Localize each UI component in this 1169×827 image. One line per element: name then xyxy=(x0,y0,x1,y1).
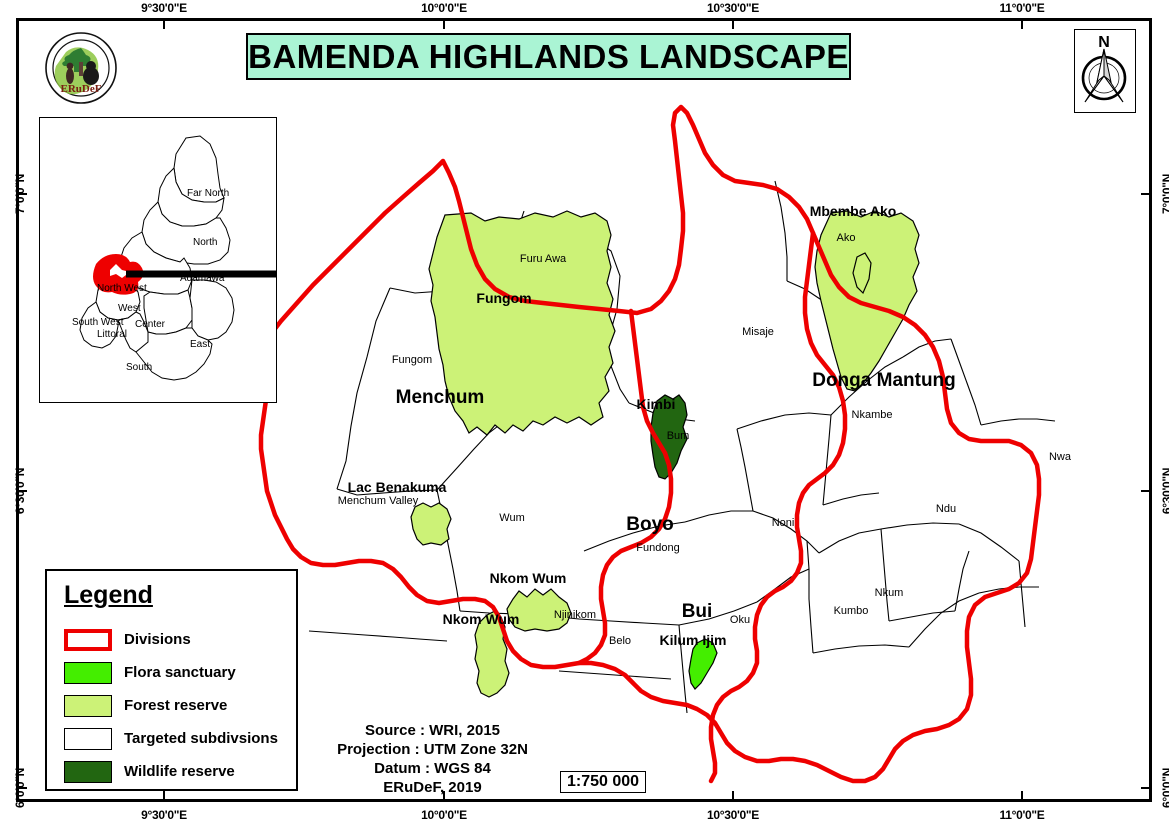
inset-map-cameroon: Far NorthNorthAdamawaNorth WestWestSouth… xyxy=(39,117,277,403)
inset-region-label-7: Center xyxy=(135,319,165,330)
protected-area-label-4: Nkom Wum xyxy=(490,570,567,586)
inset-region-label-1: North xyxy=(193,237,217,248)
subdivision-label-10: Kumbo xyxy=(834,605,869,617)
protected-area-label-5: Nkom Wum xyxy=(443,611,520,627)
source-line-2: Datum : WGS 84 xyxy=(310,759,555,778)
division-label-1: Donga Mantung xyxy=(812,370,956,391)
graticule-label-bottom-3: 11°0'0"E xyxy=(1000,808,1045,822)
map-title: BAMENDA HIGHLANDS LANDSCAPE xyxy=(248,38,849,76)
legend-item-2: Forest reserve xyxy=(64,689,294,722)
graticule-label-bottom-0: 9°30'0"E xyxy=(141,808,187,822)
inset-region-label-5: South West xyxy=(72,317,124,328)
legend-swatch-0 xyxy=(64,629,112,651)
legend-item-0: Divisions xyxy=(64,623,294,656)
protected-area-label-1: Mbembe Ako xyxy=(810,203,897,219)
subdivision-label-7: Ndu xyxy=(936,503,956,515)
area-mbembe-ako xyxy=(815,211,919,391)
graticule-label-top-2: 10°30'0"E xyxy=(707,1,759,15)
graticule-label-top-0: 9°30'0"E xyxy=(141,1,187,15)
inset-region-label-3: North West xyxy=(97,283,147,294)
subdivision-label-1: Fungom xyxy=(392,354,432,366)
legend-item-4: Wildlife reserve xyxy=(64,755,294,788)
graticule-label-right-1: 6°30'0"N xyxy=(1160,468,1169,514)
source-line-1: Projection : UTM Zone 32N xyxy=(310,740,555,759)
subdivision-label-14: Fundong xyxy=(636,542,679,554)
subdivision-label-16: Menchum Valley xyxy=(338,495,419,507)
legend-swatch-4 xyxy=(64,761,112,783)
inset-region-label-9: South xyxy=(126,362,152,373)
legend-title: Legend xyxy=(64,581,153,610)
division-label-0: Menchum xyxy=(396,387,485,408)
division-label-3: Bui xyxy=(682,601,713,622)
subdivision-label-3: Misaje xyxy=(742,326,774,338)
inset-region-label-2: Adamawa xyxy=(180,273,224,284)
division-label-2: Boyo xyxy=(626,514,674,535)
legend-label-0: Divisions xyxy=(124,631,191,648)
inset-region-label-4: West xyxy=(118,303,141,314)
subdivision-label-0: Furu Awa xyxy=(520,253,567,265)
legend-swatch-3 xyxy=(64,728,112,750)
legend-box: Legend DivisionsFlora sanctuaryForest re… xyxy=(45,569,298,791)
graticule-label-right-2: 6°0'0"N xyxy=(1160,768,1169,808)
inset-region-label-0: Far North xyxy=(187,188,229,199)
legend-item-1: Flora sanctuary xyxy=(64,656,294,689)
subdivision-label-13: Njinikom xyxy=(554,609,596,621)
source-line-3: ERuDeF, 2019 xyxy=(310,778,555,797)
graticule-label-top-1: 10°0'0"E xyxy=(421,1,467,15)
subdivision-label-2: Bum xyxy=(667,430,690,442)
subdivision-label-11: Oku xyxy=(730,614,750,626)
protected-area-label-2: Kimbi xyxy=(637,396,676,412)
map-page: 9°30'0"E10°0'0"E10°30'0"E11°0'0"E 9°30'0… xyxy=(0,0,1169,827)
map-title-box: BAMENDA HIGHLANDS LANDSCAPE xyxy=(246,33,851,80)
graticule-label-bottom-2: 10°30'0"E xyxy=(707,808,759,822)
north-arrow-box: N xyxy=(1074,29,1136,113)
protected-area-label-6: Kilum Ijim xyxy=(660,632,727,648)
legend-item-3: Targeted subdivsions xyxy=(64,722,294,755)
subdivision-label-9: Nkum xyxy=(875,587,904,599)
subdivision-label-4: Ako xyxy=(837,232,856,244)
legend-label-3: Targeted subdivsions xyxy=(124,730,278,747)
protected-area-label-3: Lac Benakuma xyxy=(348,479,447,495)
legend-label-4: Wildlife reserve xyxy=(124,763,235,780)
graticule-label-right-0: 7°0'0"N xyxy=(1160,174,1169,214)
subdivision-label-5: Nkambe xyxy=(852,409,893,421)
area-lac-benakuma xyxy=(411,503,451,545)
protected-area-label-0: Fungom xyxy=(476,290,531,306)
source-line-0: Source : WRI, 2015 xyxy=(310,721,555,740)
legend-items: DivisionsFlora sanctuaryForest reserveTa… xyxy=(64,623,294,788)
legend-swatch-2 xyxy=(64,695,112,717)
graticule-label-top-3: 11°0'0"E xyxy=(1000,1,1045,15)
subdivision-label-8: Noni xyxy=(772,517,795,529)
subdivision-label-15: Wum xyxy=(499,512,524,524)
subdivision-label-12: Belo xyxy=(609,635,631,647)
subdivision-label-6: Nwa xyxy=(1049,451,1072,463)
scale-text: 1:750 000 xyxy=(560,771,646,793)
source-credits: Source : WRI, 2015Projection : UTM Zone … xyxy=(310,721,555,797)
inset-region-label-8: East xyxy=(190,339,210,350)
svg-text:N: N xyxy=(1098,34,1110,51)
legend-swatch-1 xyxy=(64,662,112,684)
svg-text:ERuDeF: ERuDeF xyxy=(61,83,102,95)
north-arrow-icon: N xyxy=(1075,30,1133,110)
legend-label-2: Forest reserve xyxy=(124,697,227,714)
inset-region-label-6: Littoral xyxy=(97,329,127,340)
legend-label-1: Flora sanctuary xyxy=(124,664,236,681)
erudef-logo: ERuDeF xyxy=(44,30,118,106)
graticule-label-bottom-1: 10°0'0"E xyxy=(421,808,467,822)
